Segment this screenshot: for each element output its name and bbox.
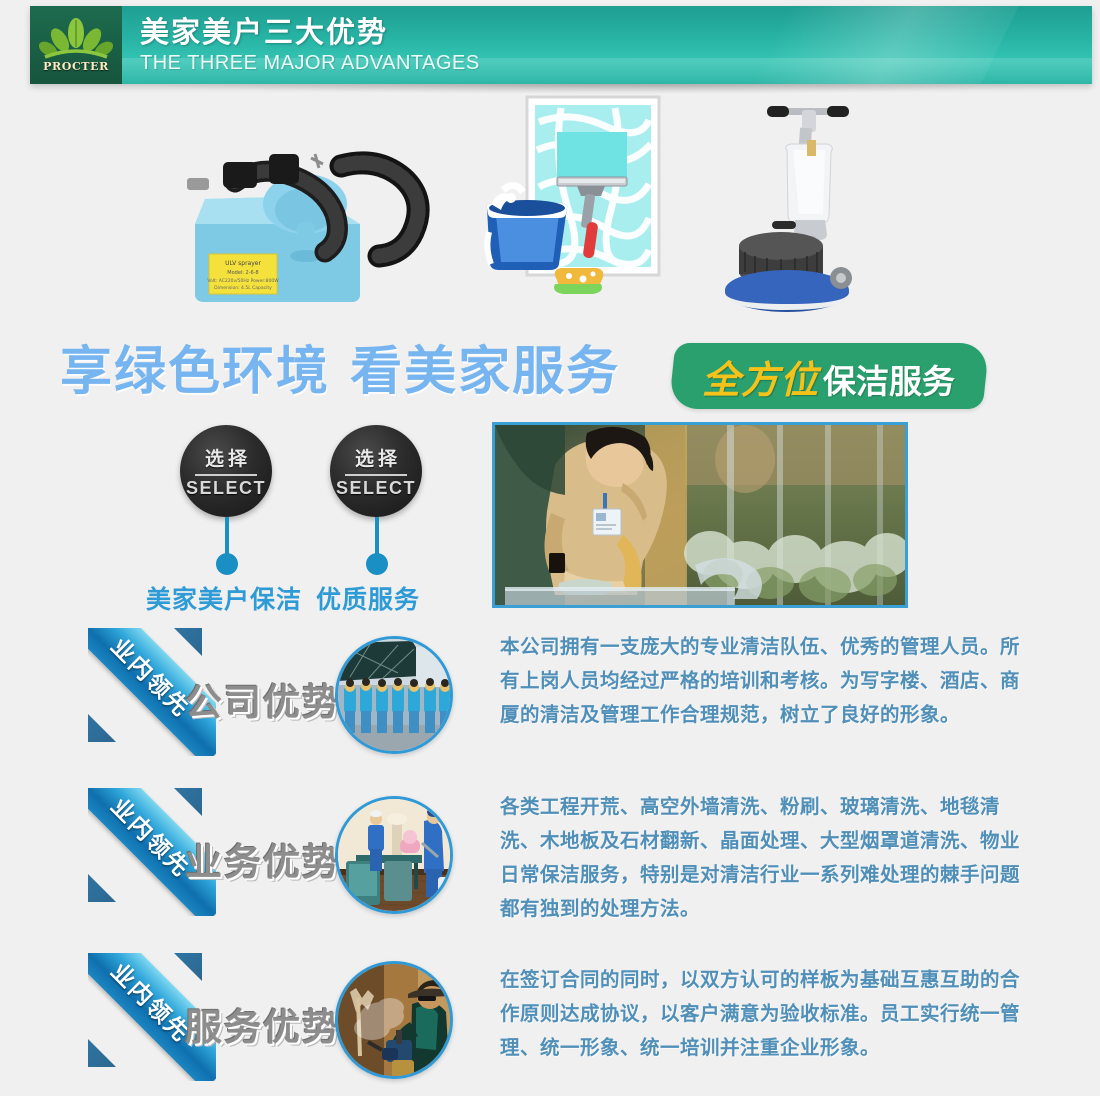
select-circle-2[interactable]: 选择 SELECT <box>330 425 422 517</box>
svg-text:Volt: AC220v/50Hz Power:800W: Volt: AC220v/50Hz Power:800W <box>207 278 279 284</box>
brand-logo: PROCTER <box>30 6 122 84</box>
header-title-en: THE THREE MAJOR ADVANTAGES <box>140 50 480 76</box>
advantage-text-2: 各类工程开荒、高空外墙清洗、粉刷、玻璃清洗、地毯清洗、木地板及石材翻新、晶面处理… <box>500 790 1020 926</box>
leaf-crown-icon <box>39 17 113 63</box>
service-badge: 全方位 保洁服务 <box>669 343 990 409</box>
ribbon-tail-left <box>88 714 116 742</box>
indoor-cleaning-photo <box>338 799 453 914</box>
advantage-title-2: 业务优势 <box>185 832 341 886</box>
main-headline: 享绿色环境 看美家服务 <box>60 341 620 403</box>
ribbon-tail-left <box>88 874 116 902</box>
advantage-row-business: 业内领先 业务优势 <box>0 788 1100 938</box>
pin-dot-1 <box>216 553 238 575</box>
service-badge-highlight: 全方位 <box>702 349 819 404</box>
ribbon-tail-left <box>88 1039 116 1067</box>
advantage-row-company: 业内领先 公司优势 <box>0 628 1100 778</box>
select-label-2: 优质服务 <box>316 580 420 616</box>
header-title-cn: 美家美户三大优势 <box>140 14 480 50</box>
staff-group-photo <box>338 639 453 754</box>
ulv-sprayer-image: ULV sprayer Model: 2-6-8 Volt: AC220v/50… <box>165 104 485 324</box>
svg-text:ULV sprayer: ULV sprayer <box>225 260 261 267</box>
advantage-row-service: 业内领先 服务优势 <box>0 953 1100 1096</box>
advantage-title-1: 公司优势 <box>185 672 341 726</box>
product-image-row: ULV sprayer Model: 2-6-8 Volt: AC220v/50… <box>0 92 1100 338</box>
ribbon-tail-right <box>174 953 202 981</box>
advantage-text-1: 本公司拥有一支庞大的专业清洁队伍、优秀的管理人员。所有上岗人员均经过严格的培训和… <box>500 630 1020 732</box>
service-badge-rest: 保洁服务 <box>824 355 956 403</box>
ribbon-tail-right <box>174 788 202 816</box>
advantage-thumb-1 <box>335 636 453 754</box>
floor-polisher-image <box>715 94 920 324</box>
select-label-1: 美家美户保洁 <box>146 580 302 616</box>
select-circle-2-cn: 选择 <box>355 444 401 471</box>
advantage-title-3: 服务优势 <box>185 997 341 1051</box>
worker-spraying-photo <box>338 964 453 1079</box>
advantages-infographic-page: PROCTER 美家美户三大优势 THE THREE MAJOR ADVANTA… <box>0 0 1100 1096</box>
select-pin-2[interactable]: 选择 SELECT <box>330 425 430 517</box>
advantage-text-3: 在签订合同的同时，以双方认可的样板为基础互惠互助的合作原则达成协议，以客户满意为… <box>500 963 1020 1065</box>
svg-text:Model: 2-6-8: Model: 2-6-8 <box>227 270 258 276</box>
ribbon-tail-right <box>174 628 202 656</box>
header-title-group: 美家美户三大优势 THE THREE MAJOR ADVANTAGES <box>140 14 480 76</box>
svg-text:Dimension: 4.5L Capacity: Dimension: 4.5L Capacity <box>214 285 272 291</box>
select-divider <box>345 474 407 476</box>
select-circle-1-cn: 选择 <box>205 444 251 471</box>
staff-photo <box>492 422 908 608</box>
select-circle-2-en: SELECT <box>336 478 416 499</box>
brand-logo-text: PROCTER <box>43 60 109 73</box>
window-squeegee-bucket-image <box>465 92 700 327</box>
staff-photo-illustration <box>495 425 905 605</box>
select-circle-1[interactable]: 选择 SELECT <box>180 425 272 517</box>
select-divider <box>195 474 257 476</box>
pin-dot-2 <box>366 553 388 575</box>
select-pin-1[interactable]: 选择 SELECT <box>180 425 280 517</box>
select-circle-1-en: SELECT <box>186 478 266 499</box>
advantage-thumb-2 <box>335 796 453 914</box>
advantage-thumb-3 <box>335 961 453 1079</box>
select-pin-group: 选择 SELECT 选择 SELECT 美家美户保洁 优质服务 <box>0 425 470 620</box>
page-header: PROCTER 美家美户三大优势 THE THREE MAJOR ADVANTA… <box>30 6 1092 84</box>
